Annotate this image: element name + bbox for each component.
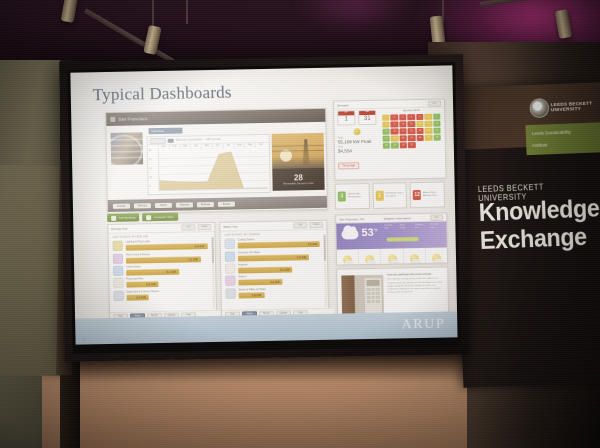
heatmap-cell[interactable]: 4: [407, 114, 415, 120]
leeds-beckett-banner: LEEDS BECKETT UNIVERSITY Leeds Sustainab…: [452, 82, 600, 387]
bar-wrapper: Data Centre & Server Rooms2,4 GW: [127, 289, 212, 301]
forecast-day: Tue: [359, 249, 382, 266]
value-bar: 2,4 GW: [127, 294, 149, 300]
renewables-caption: Renewable Sources in Use: [283, 182, 313, 186]
value-bar: 6,2 GW: [238, 266, 292, 273]
device-copy: How this dashboard fits smart controls T…: [387, 273, 443, 295]
valve-icon: [225, 251, 235, 261]
sun-cloud-icon: [343, 255, 352, 264]
chart-plot-area: [158, 148, 268, 191]
heatmap-cell[interactable]: 25: [408, 135, 416, 141]
weather-subtitle: Weather Information: [384, 216, 411, 221]
heatmap-cell[interactable]: 7: [433, 113, 441, 119]
green-action-tab[interactable]: Compare Sites: [142, 213, 177, 222]
value-bar: 2,8 GW: [239, 292, 265, 298]
socket-icon: [113, 278, 123, 288]
row-value: 8,3 GW: [195, 243, 205, 249]
heatmap-cell[interactable]: 11: [408, 121, 416, 127]
status-card[interactable]: 1Unit Needs CheckThis Week: [372, 182, 407, 209]
row-value: 2,4 GW: [136, 294, 146, 300]
value-bar: 5,2 GW: [126, 281, 158, 288]
cloud-icon: [341, 229, 358, 239]
weather-detail-value: 9 mph: [400, 227, 413, 230]
energy-rows: Lighting & Plug Loads8,3 GWHVAC Fans & P…: [109, 238, 216, 302]
tab-overview[interactable]: Overview: [148, 128, 182, 135]
heatmap-cell[interactable]: 19: [416, 127, 424, 133]
stat-peak: Peak 55,189 kW Peak: [338, 136, 378, 144]
forecast-day-label: Fri: [435, 264, 437, 266]
heatmap-cell[interactable]: 28: [433, 134, 441, 140]
water-rows: Cooling Towers7,6 GWDomestic Hot Water7,…: [221, 236, 328, 300]
heatmap-cell[interactable]: 22: [383, 135, 391, 141]
status-line2: Attention Now: [423, 195, 437, 198]
arup-logo: ARUP: [401, 317, 445, 334]
weather-detail: UV IndexLow: [430, 224, 443, 230]
meter-icon: [114, 290, 124, 300]
weather-temperature: 53°F: [361, 227, 378, 239]
green-action-tabs: Add BuildingCompare Sites: [107, 213, 178, 222]
dashboard-footer-button[interactable]: Energy: [113, 203, 130, 208]
heatmap-cell[interactable]: 13: [424, 120, 432, 126]
leeds-beckett-wordmark: LEEDS BECKETT UNIVERSITY: [551, 100, 597, 113]
dashboard-body: Overview Electricity consumption — kWh p…: [106, 122, 326, 200]
status-text: Unit Needs CheckThis Week: [385, 192, 403, 198]
weather-alert-pill: [387, 237, 419, 241]
row-value: 7,0 GW: [297, 254, 307, 260]
bar-wrapper: Steam & Make-up Water2,8 GW: [239, 287, 324, 299]
weather-detail-value: Low: [430, 227, 443, 230]
row-value: 7,1 GW: [188, 256, 198, 262]
stat-cost-value: $4,554: [338, 147, 378, 153]
heatmap-cell[interactable]: [425, 141, 433, 147]
bar-wrapper: Chilled Water6,1 GW: [126, 264, 211, 276]
device-screen: [366, 280, 379, 286]
tab-overview-label: Overview: [148, 128, 182, 135]
forecast-day-label: Wed: [390, 265, 394, 266]
y-tick-0: 60: [149, 150, 152, 152]
plus-icon: [146, 215, 151, 220]
rose-icon: [530, 99, 548, 117]
bar-wrapper: Lighting & Plug Loads8,3 GW: [126, 239, 211, 251]
water-panel-controls: List Chart: [293, 222, 323, 229]
leeds-beckett-logo: LEEDS BECKETT UNIVERSITY: [530, 90, 597, 123]
heatmap-cell[interactable]: 18: [408, 128, 416, 134]
plus-icon: [111, 215, 116, 220]
energy-control-chart[interactable]: Chart: [197, 224, 211, 231]
renewables-value: 28: [294, 173, 303, 182]
sun-cloud-icon: [365, 255, 374, 264]
heatmap-cell[interactable]: 32: [408, 142, 416, 148]
status-badge: 7% too high: [338, 162, 359, 169]
bar-wrapper: HVAC Fans & Pumps7,1 GW: [126, 252, 211, 264]
status-card[interactable]: 3Systems AreRunning Fine: [335, 183, 370, 210]
y-tick-1: 45: [149, 159, 152, 161]
renewables-metric: 28 Renewable Sources in Use: [272, 168, 324, 191]
device-heading: How this dashboard fits smart controls: [387, 273, 443, 277]
page-title: Typical Dashboards: [93, 83, 232, 106]
weather-widget: San Francisco, CA Weather Information Ed…: [335, 212, 448, 265]
sun-cloud-icon: [410, 254, 419, 263]
heatmap-cell[interactable]: 16: [391, 128, 399, 134]
row-value: 6,2 GW: [280, 266, 290, 272]
demand-summary: JAN 1 JAN 31 Peak 55,189 kW Peak: [337, 110, 378, 171]
heatmap-cell[interactable]: 14: [433, 120, 441, 126]
heatmap-cell[interactable]: 30: [391, 142, 399, 148]
heatmap-cell[interactable]: 9: [391, 121, 399, 127]
stat-peak-value: 55,189 kW Peak: [338, 138, 378, 144]
heatmap-cell[interactable]: 23: [391, 135, 399, 141]
list-item[interactable]: Steam & Make-up Water2,8 GW: [222, 285, 328, 299]
date-chip-end: JAN 31: [358, 110, 376, 125]
chiller-icon: [113, 266, 123, 276]
y-tick-4: 0: [150, 186, 151, 188]
sun-icon: [280, 149, 292, 161]
device-body: The controller, running directly on the …: [387, 278, 443, 295]
weather-degree: °F: [374, 227, 378, 232]
gauge-icon: [353, 128, 360, 135]
heatmap-cell[interactable]: 1: [382, 114, 390, 120]
thinkbim-banner: kBIM brating e: [0, 164, 64, 376]
forecast-day: Mon: [337, 249, 360, 265]
water-control-list[interactable]: List: [293, 222, 307, 229]
y-tick-2: 30: [149, 168, 152, 170]
renewables-photo-panel: 28 Renewable Sources in Use: [272, 133, 325, 191]
weather-location: San Francisco, CA: [339, 217, 364, 221]
room-scene: kBIM brating e LEEDS BECKETT UNIVERSITY …: [0, 0, 600, 448]
dashboard-footer-button[interactable]: Settings: [197, 201, 214, 206]
water-control-chart[interactable]: Chart: [309, 222, 323, 229]
bar-wrapper: Plug Load Misc5,2 GW: [126, 276, 211, 288]
weather-detail-value: 30.1: [415, 227, 428, 230]
bar-wrapper: Irrigation6,2 GW: [238, 262, 323, 274]
forecast-day: Fri: [426, 247, 448, 265]
energy-panel-controls: List Chart: [181, 224, 211, 231]
bar-wrapper: Kitchen4,1 GW: [238, 274, 323, 286]
dashboard-footer-button[interactable]: Reports: [176, 202, 193, 207]
weather-detail: Humidity74%: [384, 224, 397, 230]
energy-control-list[interactable]: List: [181, 224, 195, 231]
value-bar: 7,1 GW: [126, 256, 201, 263]
sun-cloud-icon: [432, 254, 441, 263]
row-value: 2,8 GW: [252, 292, 262, 298]
weather-detail-value: 74%: [384, 227, 397, 230]
value-bar: 6,1 GW: [126, 269, 179, 276]
chart-caption: Electricity consumption — kWh per day: [176, 138, 221, 142]
view-toggle[interactable]: [168, 138, 174, 142]
status-line2: Running Fine: [348, 196, 361, 199]
heatmap-cell[interactable]: 27: [425, 134, 433, 140]
status-count: 3: [338, 191, 346, 201]
fan-icon: [225, 276, 235, 286]
weather-current: 53°F Humidity74%Wind9 mphPressure30.1UV …: [336, 222, 446, 250]
demand-edit-button[interactable]: Edit: [428, 100, 441, 106]
weather-detail: Wind9 mph: [400, 224, 413, 230]
forecast-day: Wed: [381, 248, 404, 265]
heatmap-cell[interactable]: 10: [399, 121, 407, 127]
energy-panel-title: Energy Use: [111, 227, 127, 231]
status-line2: This Week: [385, 195, 403, 198]
green-tab-label: Add Building: [119, 215, 136, 219]
status-count: 12: [413, 190, 421, 200]
heatmap-cell[interactable]: 5: [416, 113, 424, 119]
weather-temp-value: 53: [361, 227, 373, 239]
date-chip-start: JAN 1: [337, 110, 355, 125]
heatmap-cell[interactable]: 8: [382, 121, 390, 127]
row-value: 7,6 GW: [308, 241, 318, 247]
list-item[interactable]: Data Centre & Server Rooms2,4 GW: [110, 287, 216, 301]
leeds-sustainability-institute-tag: Leeds Sustainability Institute: [525, 122, 600, 155]
water-use-panel: Water Use List Chart LAST 30 DAYS • BY S…: [219, 220, 329, 320]
value-bar: 7,0 GW: [238, 254, 309, 261]
socket-icon: [225, 264, 235, 274]
tap-icon: [225, 239, 235, 249]
dashboard-footer-button[interactable]: Export: [218, 201, 235, 206]
heatmap-cell[interactable]: 26: [416, 134, 424, 140]
forecast-day-label: Tue: [368, 265, 371, 266]
weather-forecast: MonTueWedThuFri: [337, 247, 447, 265]
slide-page-number: 28: [81, 336, 86, 341]
heatmap-cell[interactable]: 24: [399, 135, 407, 141]
building-icon: [110, 117, 115, 122]
status-cards: 3Systems AreRunning Fine1Unit Needs Chec…: [335, 182, 445, 210]
heatmap-grid: 1234567891011121314151617181920212223242…: [382, 113, 441, 148]
forecast-day-label: Thu: [413, 264, 416, 266]
track-light-3: [430, 15, 446, 44]
water-panel-title: Water Use: [223, 225, 238, 229]
dashboard-title: San Francisco: [118, 116, 147, 122]
heatmap-cell[interactable]: 12: [416, 120, 424, 126]
site-thumbnail: [111, 132, 144, 165]
energy-chart: Electricity consumption — kWh per day Ja…: [147, 134, 271, 195]
status-text: Systems AreRunning Fine: [348, 193, 361, 199]
demand-calendar-widget: Demand Edit JAN 1 JAN 31: [333, 99, 447, 181]
forecast-day: Thu: [403, 248, 426, 266]
green-action-tab[interactable]: Add Building: [107, 213, 140, 222]
heatmap-cell[interactable]: 20: [425, 127, 433, 133]
dashboard-footer-button[interactable]: Savings: [134, 203, 151, 208]
lamp-wire-2: [186, 0, 188, 24]
weather-edit-button[interactable]: Edit: [430, 214, 443, 220]
status-card[interactable]: 12Alarms NeedAttention Now: [410, 182, 445, 209]
main-dashboard-card: San Francisco Overview: [105, 108, 328, 214]
bar-wrapper: Domestic Hot Water7,0 GW: [238, 249, 323, 261]
weather-details: Humidity74%Wind9 mphPressure30.1UV Index…: [384, 224, 443, 231]
weather-detail: Pressure30.1: [415, 224, 428, 230]
banner-headline-2: Exchange: [479, 223, 587, 256]
stat-cost: Cost $4,554: [338, 145, 378, 153]
y-tick-3: 15: [149, 177, 152, 179]
energy-use-panel: Energy Use List Chart LAST 30 DAYS • BY …: [107, 222, 217, 322]
heatmap-cell[interactable]: 3: [399, 114, 407, 120]
heatmap-cell[interactable]: [433, 141, 441, 147]
status-text: Alarms NeedAttention Now: [423, 192, 437, 198]
heatmap-cell[interactable]: 31: [400, 142, 408, 148]
chip-end-day: 31: [359, 114, 375, 123]
date-chips: JAN 1 JAN 31: [337, 110, 377, 125]
heatmap-cell[interactable]: 2: [391, 114, 399, 120]
heatmap-cell[interactable]: 6: [424, 113, 432, 119]
steam-icon: [226, 288, 236, 298]
calendar-heatmap: January 2013 123456789101112131415161718…: [382, 108, 441, 149]
pylon-icon: [298, 139, 314, 165]
heatmap-cell[interactable]: 21: [433, 127, 441, 133]
projector-screen-frame: Typical Dashboards San Francisco Overvie: [59, 54, 469, 362]
heatmap-cell[interactable]: 29: [383, 142, 391, 148]
presentation-slide: Typical Dashboards San Francisco Overvie: [70, 65, 457, 344]
lightbulb-icon: [113, 241, 123, 251]
heatmap-month-label: January 2013: [382, 108, 440, 113]
projector-screen-surface: Typical Dashboards San Francisco Overvie: [67, 62, 460, 353]
row-value: 5,2 GW: [146, 281, 156, 287]
chip-start-day: 1: [338, 115, 354, 124]
sun-cloud-icon: [387, 254, 396, 263]
device-keypad: [367, 288, 380, 303]
fan-icon: [113, 253, 123, 263]
value-bar: 4,1 GW: [238, 279, 282, 286]
dashboard-footer-button[interactable]: Alerts: [155, 202, 172, 207]
green-tab-label: Compare Sites: [154, 215, 174, 219]
row-value: 4,1 GW: [270, 279, 280, 285]
heatmap-cell[interactable]: 17: [399, 128, 407, 134]
bar-wrapper: Cooling Towers7,6 GW: [238, 237, 323, 249]
status-count: 1: [375, 191, 383, 201]
heatmap-cell[interactable]: [416, 141, 424, 147]
range-selector[interactable]: [150, 137, 166, 143]
row-value: 6,1 GW: [166, 269, 176, 275]
heatmap-cell[interactable]: 15: [382, 128, 390, 134]
demand-title: Demand: [337, 103, 348, 107]
